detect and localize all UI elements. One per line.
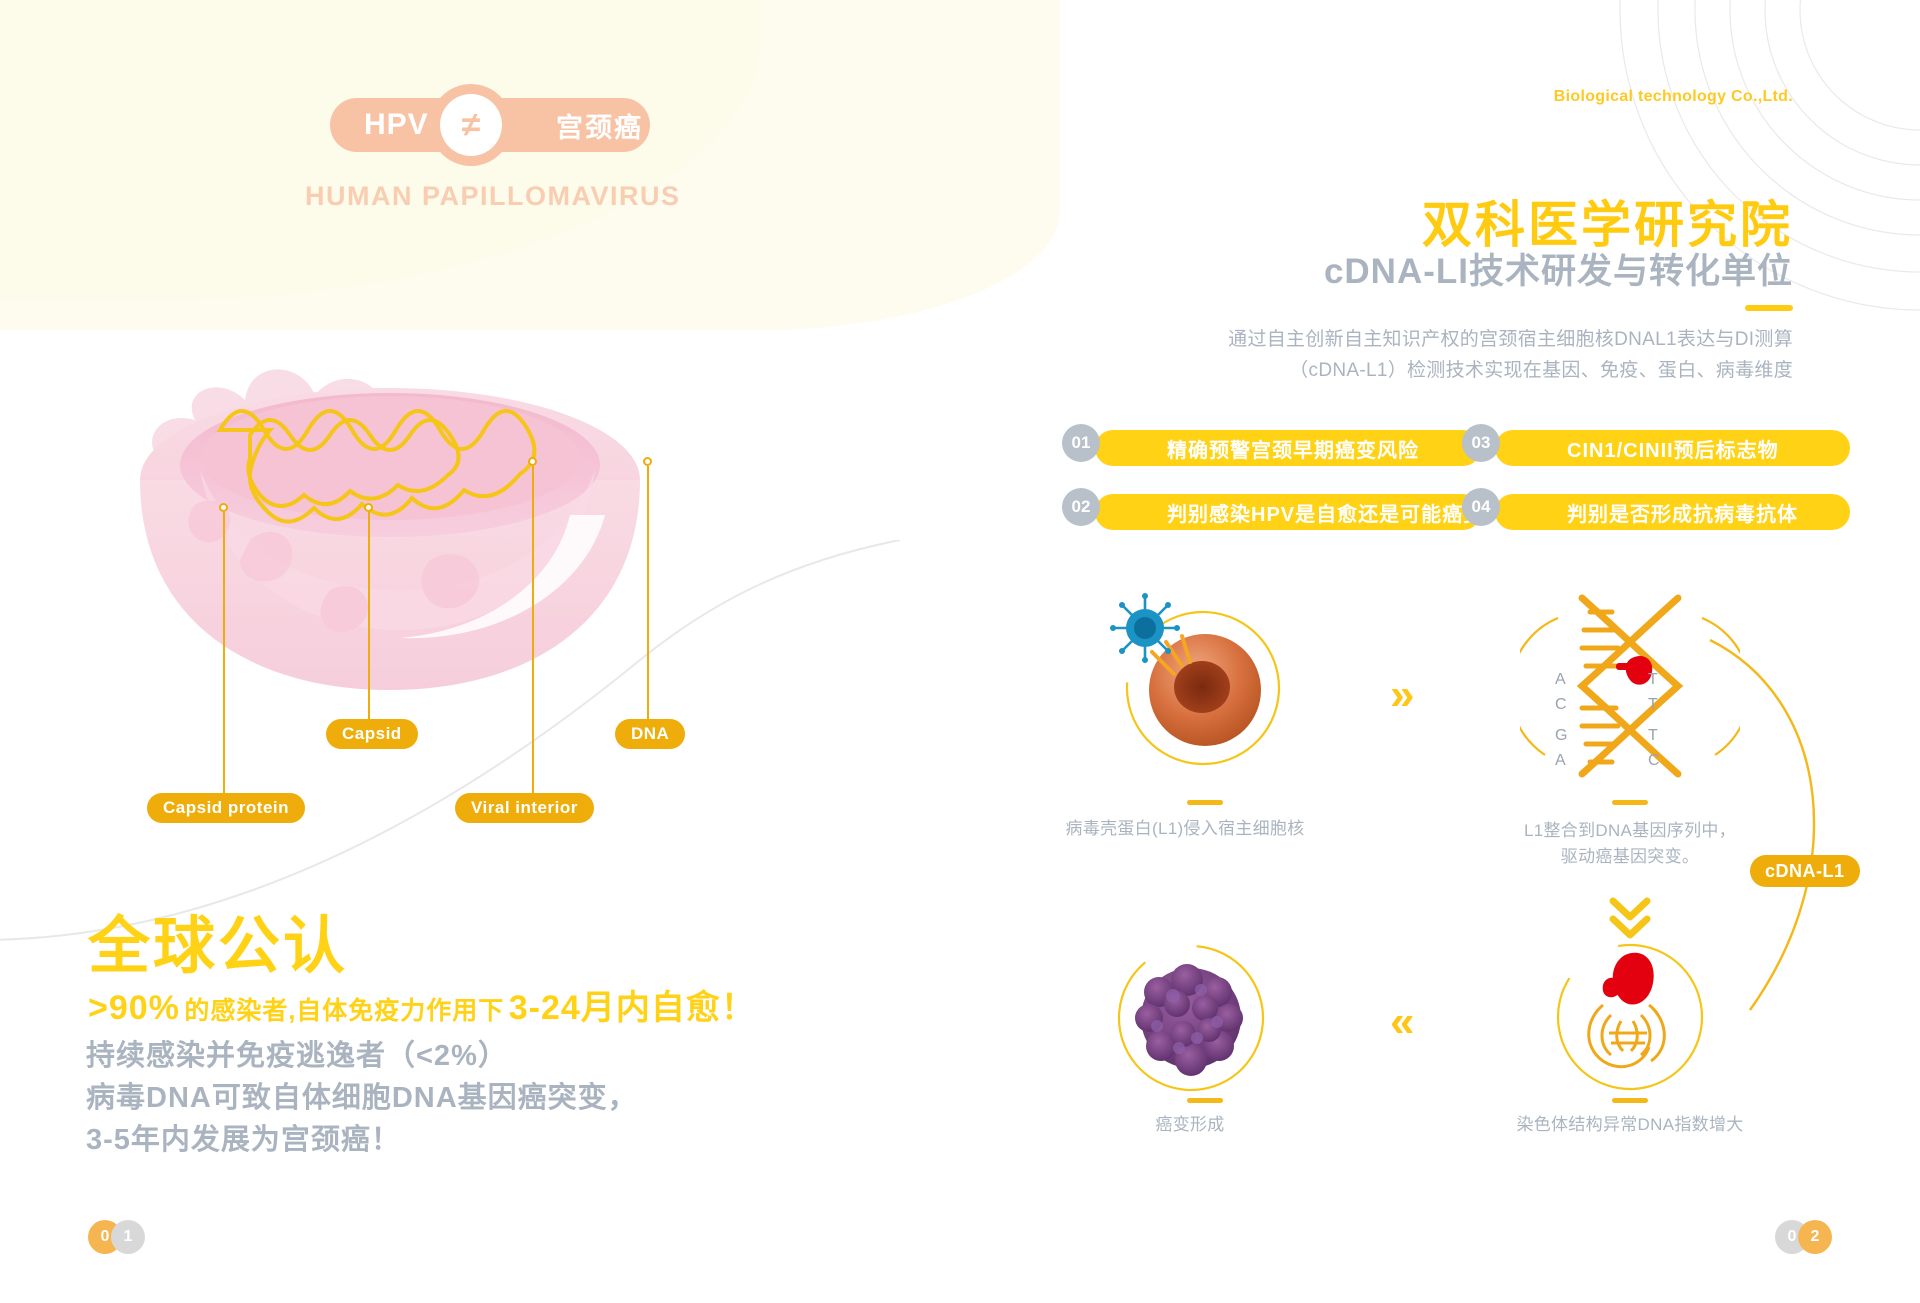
virus-svg — [100, 290, 860, 710]
dna-base-left: A C — [1555, 668, 1567, 718]
feature-label-04: 判别是否形成抗病毒抗体 — [1567, 498, 1798, 527]
dna-base-right-2: T — [1648, 724, 1660, 749]
step4-caption: 癌变形成 — [1065, 1112, 1315, 1138]
gray-line-2: 病毒DNA可致自体细胞DNA基因癌突变， — [86, 1077, 638, 1119]
page-number-left: 0 1 — [88, 1220, 145, 1254]
callout-dot-capsid — [364, 503, 373, 512]
arrow-right-icon: » — [1390, 673, 1414, 717]
step4-illustration — [1085, 930, 1295, 1110]
callout-line-capsid-protein — [223, 512, 225, 808]
page-number-right: 0 2 — [1775, 1220, 1832, 1254]
callout-dna: DNA — [615, 719, 685, 749]
callout-line-viral-interior — [532, 466, 534, 808]
step1-caption: 病毒壳蛋白(L1)侵入宿主细胞核 — [1045, 816, 1325, 842]
feature-number-04: 04 — [1462, 488, 1500, 526]
page-right-num: 2 — [1798, 1220, 1832, 1254]
not-equal-badge: ≠ — [430, 84, 512, 166]
page-left-num: 1 — [111, 1220, 145, 1254]
hpv-subtitle: HUMAN PAPILLOMAVIRUS — [305, 181, 681, 212]
callout-dot-viral-interior — [528, 457, 537, 466]
feature-label-01: 精确预警宫颈早期癌变风险 — [1167, 434, 1419, 463]
feature-pill-01[interactable]: 精确预警宫颈早期癌变风险 — [1095, 430, 1481, 466]
callout-line-dna — [647, 466, 649, 720]
company-label: Biological technology Co.,Ltd. — [1554, 88, 1793, 106]
dna-base-left-0: A — [1555, 668, 1567, 693]
dna-base-left-lower: G A — [1555, 724, 1567, 774]
infographic-page: HPV+ 宫颈癌 ≠ HUMAN PAPILLOMAVIRUS — [0, 0, 1920, 1303]
step3-caption: 染色体结构异常DNA指数增大 — [1490, 1112, 1770, 1138]
virus-illustration — [100, 290, 860, 710]
institute-subtitle: cDNA-LI技术研发与转化单位 — [1324, 243, 1793, 294]
feature-label-02: 判别感染HPV是自愈还是可能癌变 — [1167, 498, 1484, 527]
step4-rule — [1187, 1098, 1223, 1103]
step1-rule — [1187, 800, 1223, 805]
stat-tail: 3-24月内自愈！ — [509, 989, 756, 1027]
feature-number-03: 03 — [1462, 424, 1500, 462]
callout-line-capsid — [368, 512, 370, 720]
arrow-left-icon: « — [1390, 1000, 1414, 1044]
step3-illustration — [1525, 935, 1735, 1105]
self-healing-stat: >90% 的感染者,自体免疫力作用下 3-24月内自愈！ — [88, 980, 756, 1029]
callout-viral-interior: Viral interior — [455, 793, 594, 823]
dna-base-right-3: C — [1648, 749, 1660, 774]
feature-number-01: 01 — [1062, 424, 1100, 462]
dna-base-right: T T — [1648, 668, 1658, 718]
callout-capsid: Capsid — [326, 719, 418, 749]
callout-capsid-protein: Capsid protein — [147, 793, 305, 823]
step2-rule — [1612, 800, 1648, 805]
dna-base-left-1: C — [1555, 693, 1567, 718]
step3-rule — [1612, 1098, 1648, 1103]
gray-line-3: 3-5年内发展为宫颈癌！ — [86, 1119, 638, 1161]
dna-base-right-1: T — [1648, 693, 1658, 718]
dna-base-right-lower: T C — [1648, 724, 1660, 774]
institute-paragraph: 通过自主创新自主知识产权的宫颈宿主细胞核DNAL1表达与DI测算（cDNA-L1… — [1213, 325, 1793, 387]
feature-pill-03[interactable]: CIN1/CINII预后标志物 — [1495, 430, 1850, 466]
callout-dot-capsid-protein — [219, 503, 228, 512]
feature-pill-02[interactable]: 判别感染HPV是自愈还是可能癌变 — [1095, 494, 1481, 530]
stat-percent: >90% — [88, 989, 180, 1027]
global-consensus-heading: 全球公认 — [88, 895, 348, 985]
dna-base-left-3: A — [1555, 749, 1567, 774]
feature-number-02: 02 — [1062, 488, 1100, 526]
stat-middle: 的感染者,自体免疫力作用下 — [184, 997, 504, 1025]
dna-base-right-0: T — [1648, 668, 1658, 693]
divider-rule — [1745, 305, 1793, 311]
callout-dot-dna — [643, 457, 652, 466]
virus-particle-icon — [1110, 593, 1180, 663]
cervical-cancer-label: 宫颈癌 — [556, 106, 643, 145]
gray-line-1: 持续感染并免疫逃逸者（<2%） — [86, 1035, 638, 1077]
not-equal-icon: ≠ — [440, 94, 502, 156]
feature-label-03: CIN1/CINII预后标志物 — [1567, 434, 1779, 463]
persistent-infection-note: 持续感染并免疫逃逸者（<2%） 病毒DNA可致自体细胞DNA基因癌突变， 3-5… — [86, 1035, 638, 1161]
dna-base-left-2: G — [1555, 724, 1567, 749]
cdna-l1-tag: cDNA-L1 — [1750, 855, 1860, 887]
feature-pill-04[interactable]: 判别是否形成抗病毒抗体 — [1495, 494, 1850, 530]
step1-illustration — [1090, 590, 1300, 780]
